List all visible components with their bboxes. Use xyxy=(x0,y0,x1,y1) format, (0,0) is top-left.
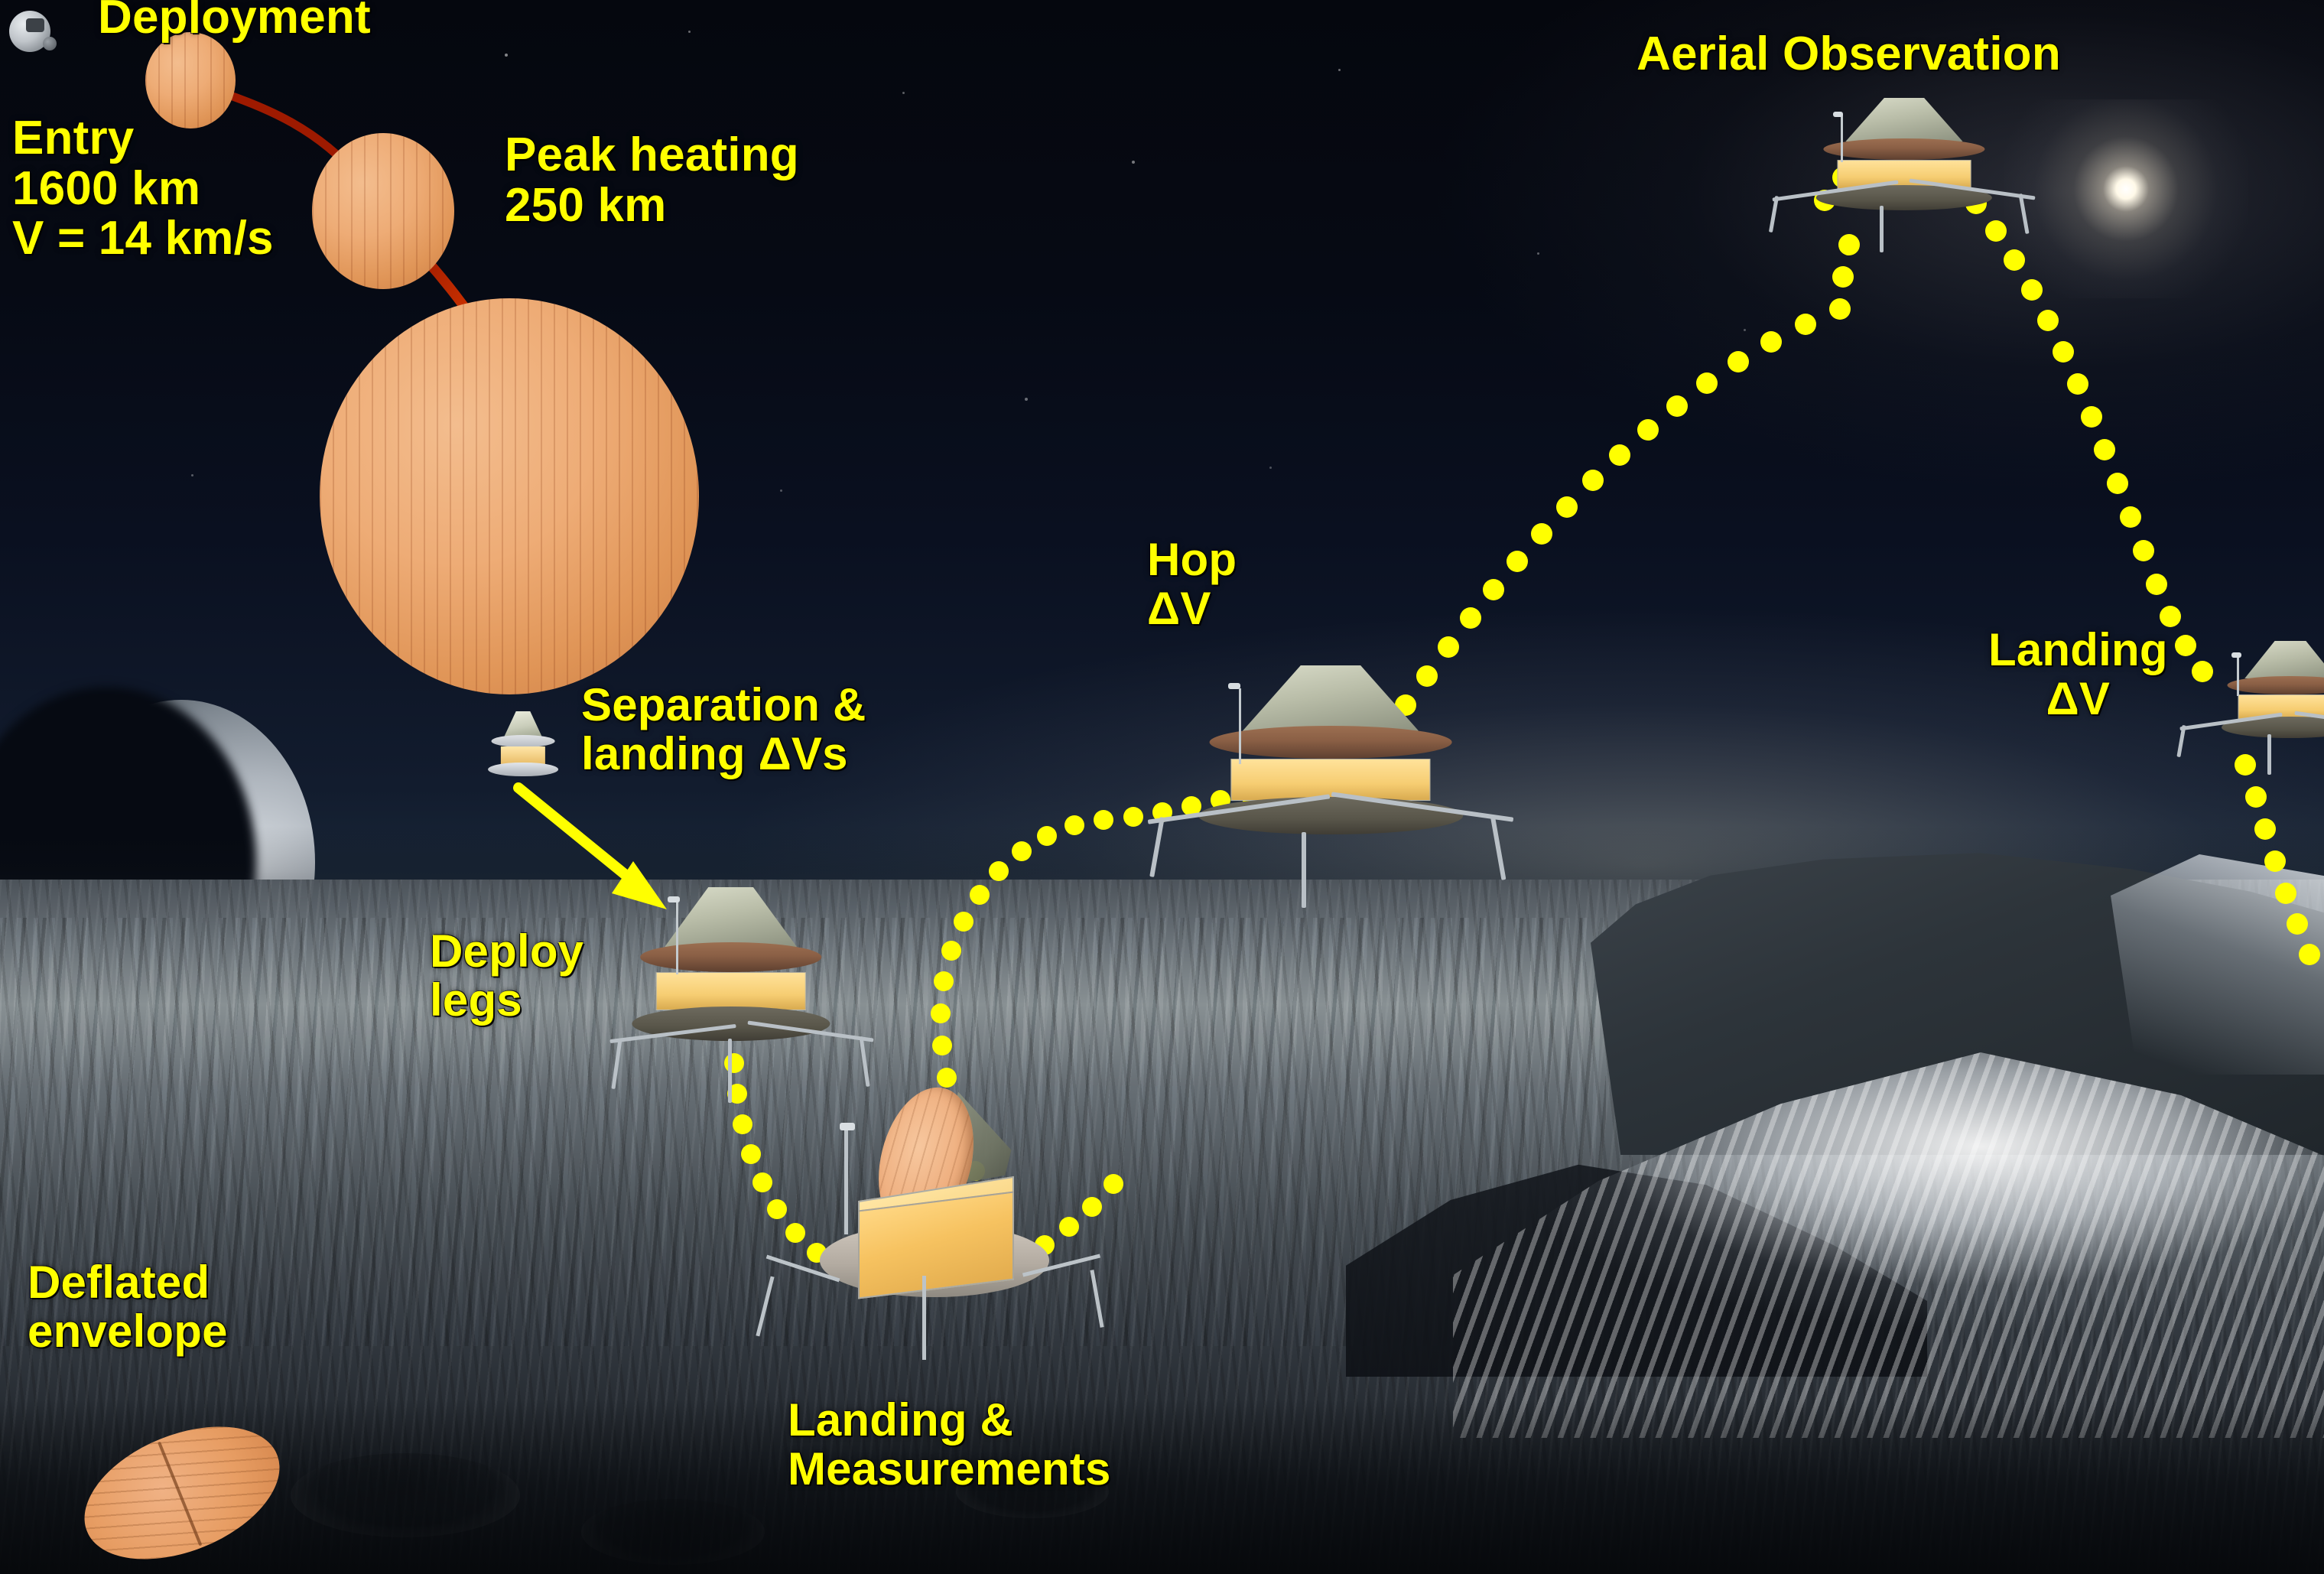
label-separation-landing-dvs: Separation & landing ΔVs xyxy=(581,681,866,778)
lander-deploy-legs-icon xyxy=(604,887,879,1117)
star xyxy=(1744,329,1746,331)
distant-sun-icon xyxy=(2004,99,2248,298)
label-deploy-legs: Deploy legs xyxy=(430,927,583,1024)
star xyxy=(1132,161,1135,164)
star xyxy=(780,489,782,492)
label-entry: Entry 1600 km V = 14 km/s xyxy=(12,113,274,264)
star xyxy=(902,92,905,94)
label-landing-dv: Landing ΔV xyxy=(1988,626,2168,723)
label-aerial-observation: Aerial Observation xyxy=(1637,29,2061,80)
star xyxy=(1269,467,1272,469)
mission-concept-illustration: Deployment Entry 1600 km V = 14 km/s Pea… xyxy=(0,0,2324,1574)
label-landing-measurements: Landing & Measurements xyxy=(788,1396,1111,1493)
ballute-large-icon xyxy=(320,298,699,694)
lander-surface-icon xyxy=(811,1086,1071,1346)
label-deflated-envelope: Deflated envelope xyxy=(28,1258,228,1355)
separation-craft-icon xyxy=(480,711,566,791)
label-hop-dv: Hop ΔV xyxy=(1147,535,1237,633)
star xyxy=(191,474,193,476)
lander-hop-icon xyxy=(1147,665,1514,918)
star xyxy=(1025,398,1028,401)
star xyxy=(688,31,691,33)
foreground-shadow xyxy=(0,1400,2324,1574)
label-deployment: Deployment xyxy=(98,0,371,43)
lander-descending-icon xyxy=(2195,641,2324,786)
star xyxy=(1537,252,1539,255)
ballute-medium-icon xyxy=(312,133,454,289)
label-peak-heating: Peak heating 250 km xyxy=(505,130,799,230)
lander-apex-icon xyxy=(1782,98,2027,266)
spacecraft-probe-icon xyxy=(9,8,60,55)
star xyxy=(1338,69,1341,71)
star xyxy=(505,54,508,57)
